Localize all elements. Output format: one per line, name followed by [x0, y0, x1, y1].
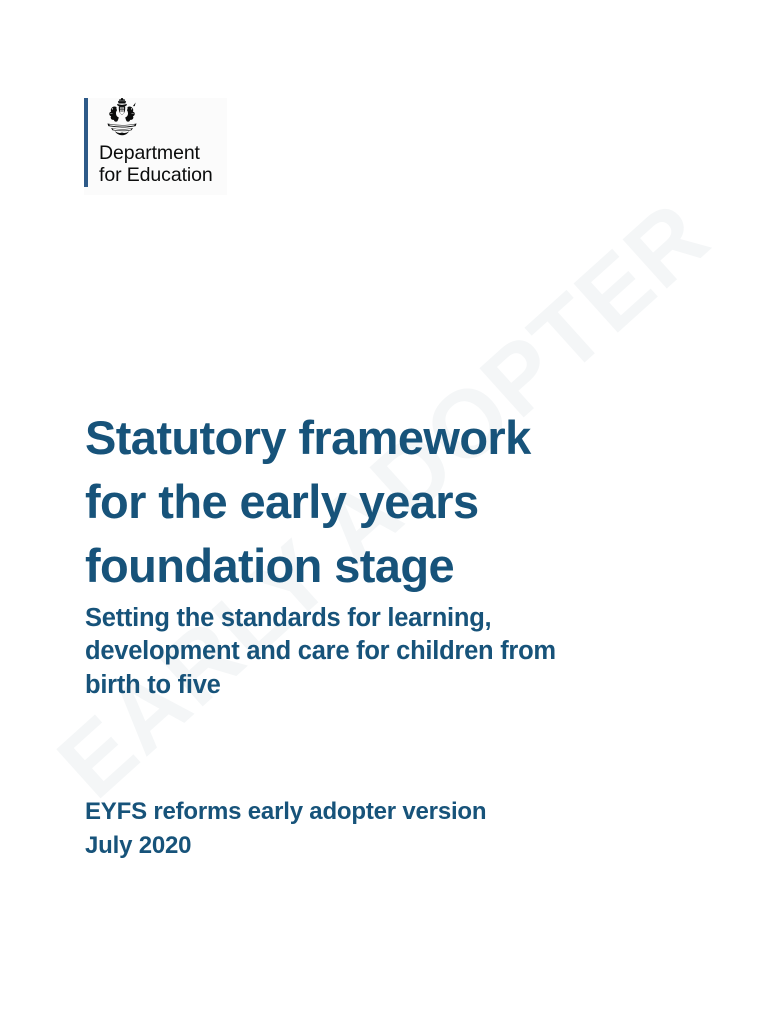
document-cover-page: EARLY ADOPTER: [0, 0, 768, 1024]
version-block: EYFS reforms early adopter version July …: [85, 795, 685, 863]
page-title: Statutory framework for the early years …: [85, 406, 685, 598]
title-line-1: Statutory framework: [85, 411, 531, 464]
version-label: EYFS reforms early adopter version: [85, 795, 685, 829]
publication-date: July 2020: [85, 829, 685, 863]
royal-coat-of-arms-icon: [99, 98, 145, 138]
page-subtitle: Setting the standards for learning, deve…: [85, 602, 685, 702]
logo-accent-bar: [84, 98, 88, 187]
title-line-3: foundation stage: [85, 539, 454, 592]
title-block: Statutory framework for the early years …: [85, 406, 685, 702]
logo-text-line2: for Education: [99, 165, 213, 187]
department-for-education-logo: Department for Education: [84, 98, 227, 195]
subtitle-line-3: birth to five: [85, 671, 221, 699]
logo-text-line1: Department: [99, 143, 213, 165]
subtitle-line-1: Setting the standards for learning,: [85, 604, 491, 632]
logo-content: Department for Education: [99, 98, 213, 187]
title-line-2: for the early years: [85, 475, 479, 528]
subtitle-line-2: development and care for children from: [85, 637, 556, 665]
